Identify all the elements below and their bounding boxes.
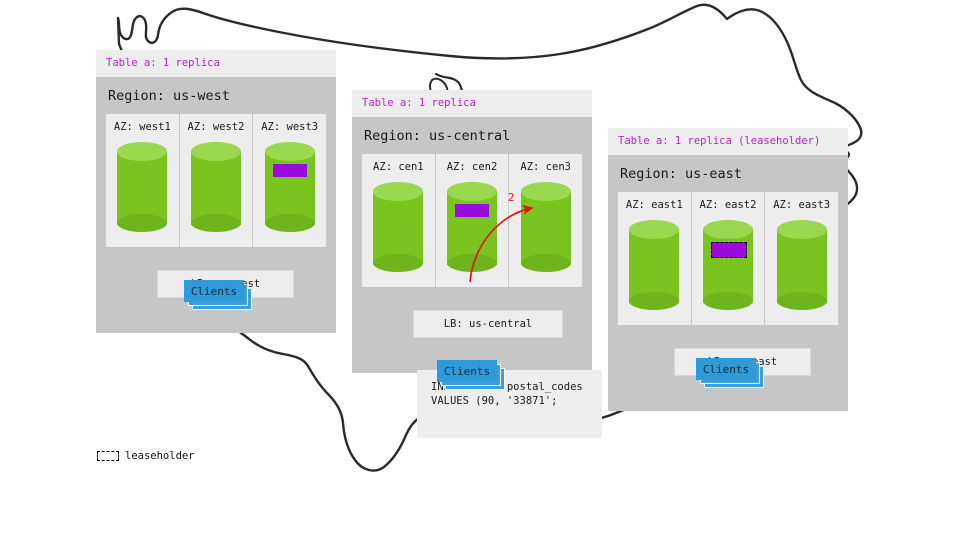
az-row-us-west: AZ: west1 AZ: west2 AZ xyxy=(106,114,326,247)
cylinder-base xyxy=(777,292,827,310)
az-label-east3: AZ: east3 xyxy=(765,199,838,211)
table-replica-header-us-east: Table a: 1 replica (leaseholder) xyxy=(608,128,848,155)
az-label-east1: AZ: east1 xyxy=(618,199,691,211)
replica-block-cen2[interactable] xyxy=(455,204,489,217)
az-label-cen3: AZ: cen3 xyxy=(509,161,582,173)
node-cylinder-cen3[interactable] xyxy=(521,182,571,274)
az-row-us-central: AZ: cen1 AZ: cen2 xyxy=(362,154,582,287)
cylinder-base xyxy=(373,254,423,272)
clients-button-us-central[interactable]: Clients xyxy=(437,360,507,392)
cylinder-base xyxy=(703,292,753,310)
az-cell-west2[interactable]: AZ: west2 xyxy=(180,114,254,247)
az-row-us-east: AZ: east1 AZ: east2 xyxy=(618,192,838,325)
az-cell-cen1[interactable]: AZ: cen1 xyxy=(362,154,436,287)
cylinder-top xyxy=(777,220,827,239)
cylinder-base xyxy=(447,254,497,272)
clients-button-us-east[interactable]: Clients xyxy=(696,358,766,390)
cylinder-base xyxy=(521,254,571,272)
cylinder-top xyxy=(629,220,679,239)
az-label-east2: AZ: east2 xyxy=(692,199,765,211)
cylinder-base xyxy=(265,214,315,232)
node-cylinder-cen1[interactable] xyxy=(373,182,423,274)
az-cell-east2[interactable]: AZ: east2 xyxy=(692,192,766,325)
region-title-us-west: Region: us-west xyxy=(108,88,326,104)
node-cylinder-east3[interactable] xyxy=(777,220,827,312)
region-panel-us-west: Table a: 1 replica Region: us-west AZ: w… xyxy=(96,50,336,333)
cylinder-base xyxy=(629,292,679,310)
replica-block-east2-leaseholder[interactable] xyxy=(711,242,747,258)
node-cylinder-west2[interactable] xyxy=(191,142,241,234)
cylinder-top xyxy=(373,182,423,201)
load-balancer-us-central[interactable]: LB: us-central xyxy=(413,310,563,338)
replica-block-west3[interactable] xyxy=(273,164,307,177)
legend-leaseholder: leaseholder xyxy=(97,450,195,462)
cylinder-top xyxy=(117,142,167,161)
cylinder-top xyxy=(703,220,753,239)
clients-button-us-west[interactable]: Clients xyxy=(184,280,254,312)
cylinder-top xyxy=(521,182,571,201)
clients-button-face[interactable]: Clients xyxy=(696,358,756,380)
table-replica-header-us-west: Table a: 1 replica xyxy=(96,50,336,77)
az-label-west3: AZ: west3 xyxy=(253,121,326,133)
az-cell-cen2[interactable]: AZ: cen2 xyxy=(436,154,510,287)
az-label-cen1: AZ: cen1 xyxy=(362,161,435,173)
cylinder-top xyxy=(191,142,241,161)
region-panel-us-central: Table a: 1 replica Region: us-central AZ… xyxy=(352,90,592,373)
az-cell-east3[interactable]: AZ: east3 xyxy=(765,192,838,325)
legend-label: leaseholder xyxy=(125,450,195,462)
node-cylinder-east1[interactable] xyxy=(629,220,679,312)
clients-button-face[interactable]: Clients xyxy=(184,280,244,302)
diagram-canvas: Table a: 1 replica Region: us-west AZ: w… xyxy=(0,0,960,540)
az-cell-west3[interactable]: AZ: west3 xyxy=(253,114,326,247)
region-title-us-east: Region: us-east xyxy=(620,166,838,182)
az-label-west2: AZ: west2 xyxy=(180,121,253,133)
clients-button-face[interactable]: Clients xyxy=(437,360,497,382)
node-cylinder-east2[interactable] xyxy=(703,220,753,312)
cylinder-base xyxy=(117,214,167,232)
region-panel-us-east: Table a: 1 replica (leaseholder) Region:… xyxy=(608,128,848,411)
leaseholder-swatch-icon xyxy=(97,451,119,461)
table-replica-header-us-central: Table a: 1 replica xyxy=(352,90,592,117)
az-cell-cen3[interactable]: AZ: cen3 xyxy=(509,154,582,287)
node-cylinder-west1[interactable] xyxy=(117,142,167,234)
az-label-cen2: AZ: cen2 xyxy=(436,161,509,173)
az-label-west1: AZ: west1 xyxy=(106,121,179,133)
node-cylinder-cen2[interactable] xyxy=(447,182,497,274)
az-cell-west1[interactable]: AZ: west1 xyxy=(106,114,180,247)
cylinder-top xyxy=(265,142,315,161)
cylinder-base xyxy=(191,214,241,232)
cylinder-top xyxy=(447,182,497,201)
az-cell-east1[interactable]: AZ: east1 xyxy=(618,192,692,325)
arrow-label-2: 2 xyxy=(508,192,514,204)
region-title-us-central: Region: us-central xyxy=(364,128,582,144)
node-cylinder-west3[interactable] xyxy=(265,142,315,234)
